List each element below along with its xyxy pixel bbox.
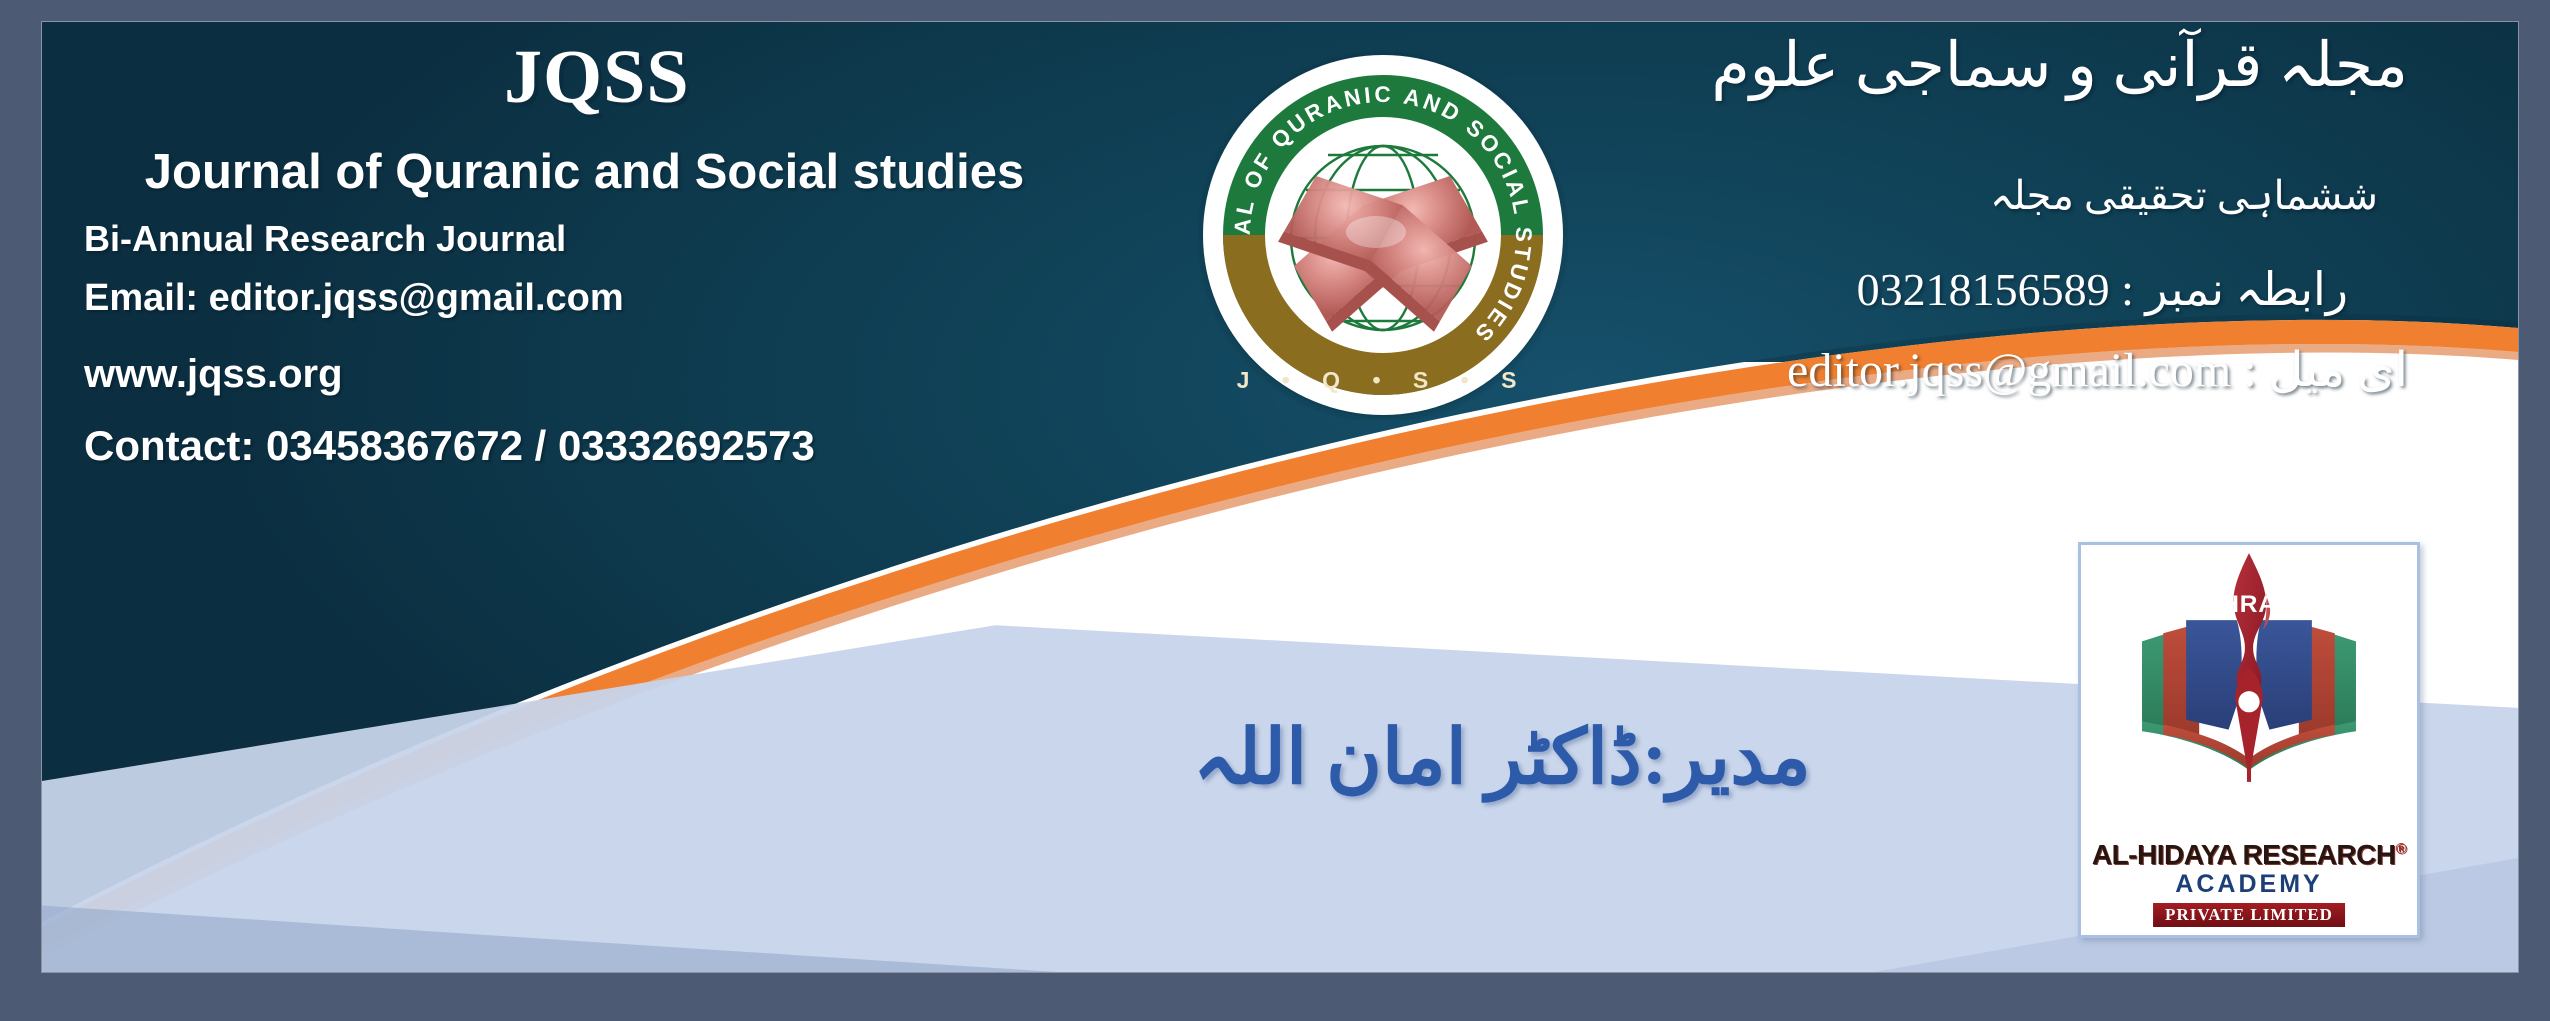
- urdu-title: مجلہ قرآنی و سماجی علوم: [1428, 28, 2408, 106]
- banner-panel: JQSS Journal of Quranic and Social studi…: [42, 22, 2518, 972]
- hra-name-line1: AL-HIDAYA RESEARCH®: [2081, 839, 2417, 871]
- email-value[interactable]: editor.jqss@gmail.com: [209, 277, 624, 319]
- urdu-phone-line: رابطہ نمبر : 03218156589: [1368, 262, 2348, 316]
- journal-title-en: Journal of Quranic and Social studies: [42, 144, 1127, 200]
- editor-name-urdu: مدیر:ڈاکٹر امان اللہ: [1062, 712, 1942, 802]
- contact-value: 03458367672 / 03332692573: [266, 422, 815, 469]
- outer-frame: JQSS Journal of Quranic and Social studi…: [0, 0, 2550, 1021]
- al-hidaya-research-academy-logo: HRA AL-HIDAYA RESEARCH® ACADEMY PRIVATE …: [2078, 542, 2420, 938]
- journal-subtitle-en: Bi-Annual Research Journal: [84, 218, 566, 260]
- journal-contact-line: Contact: 03458367672 / 03332692573: [84, 422, 815, 470]
- urdu-email-label: ای میل :: [2243, 344, 2408, 397]
- hra-name-line2: ACADEMY: [2081, 870, 2417, 899]
- journal-email-line: Email: editor.jqss@gmail.com: [84, 277, 624, 320]
- hra-name-line3: PRIVATE LIMITED: [2153, 903, 2345, 927]
- email-label: Email:: [84, 277, 198, 319]
- urdu-email-value[interactable]: editor.jqss@gmail.com: [1787, 344, 2231, 397]
- urdu-subtitle: ششماہی تحقیقی مجلہ: [1398, 172, 2378, 219]
- registered-mark-icon: ®: [2396, 841, 2407, 858]
- urdu-phone-value: 03218156589: [1857, 264, 2110, 315]
- urdu-phone-label: رابطہ نمبر :: [2121, 264, 2348, 315]
- hra-emblem-icon: HRA: [2081, 545, 2417, 790]
- journal-website[interactable]: www.jqss.org: [84, 352, 343, 397]
- hra-flame-label: HRA: [2221, 591, 2277, 618]
- urdu-email-line: ای میل : editor.jqss@gmail.com: [1428, 342, 2408, 398]
- journal-acronym: JQSS: [504, 34, 690, 121]
- contact-label: Contact:: [84, 422, 254, 469]
